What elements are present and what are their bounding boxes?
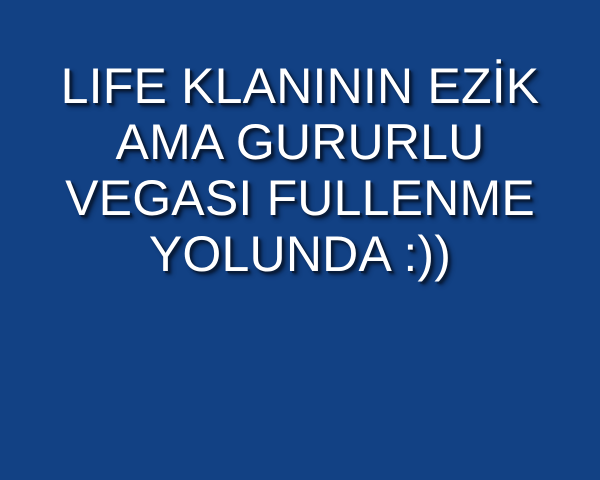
caption-line-3: VEGASI FULLENME xyxy=(0,170,600,226)
slide-canvas: LIFE KLANININ EZİK AMA GURURLU VEGASI FU… xyxy=(0,0,600,480)
caption-line-1: LIFE KLANININ EZİK xyxy=(0,58,600,114)
caption-line-2: AMA GURURLU xyxy=(0,114,600,170)
caption-text-block: LIFE KLANININ EZİK AMA GURURLU VEGASI FU… xyxy=(0,58,600,282)
caption-line-4: YOLUNDA :)) xyxy=(0,226,600,282)
